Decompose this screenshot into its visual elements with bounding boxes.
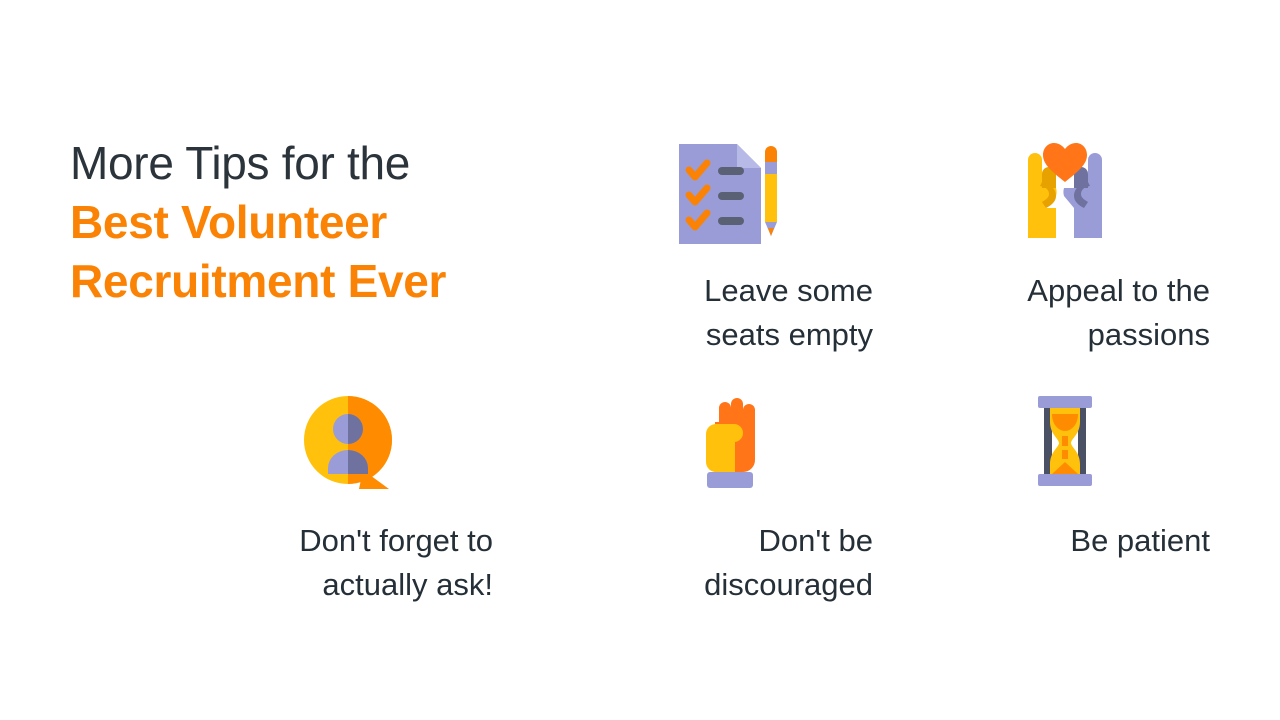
tip-caption: Be patient [920, 519, 1210, 563]
tip-caption: Don't forget to actually ask! [203, 519, 493, 607]
caption-line: actually ask! [203, 563, 493, 607]
caption-line: Be patient [920, 519, 1210, 563]
hourglass-icon [920, 386, 1210, 501]
slide-canvas: More Tips for the Best Volunteer Recruit… [0, 0, 1280, 720]
caption-line: discouraged [583, 563, 873, 607]
tip-dont-be-discouraged: Don't be discouraged [583, 386, 873, 607]
caption-line: passions [920, 313, 1210, 357]
title-line-1: More Tips for the [70, 134, 540, 193]
tip-caption: Appeal to the passions [920, 269, 1210, 357]
tip-be-patient: Be patient [920, 386, 1210, 563]
tip-leave-seats-empty: Leave some seats empty [583, 136, 873, 357]
raised-fist-icon [583, 386, 873, 501]
page-title: More Tips for the Best Volunteer Recruit… [70, 134, 540, 311]
tip-appeal-to-passions: Appeal to the passions [920, 136, 1210, 357]
caption-line: Don't forget to [203, 519, 493, 563]
tip-caption: Leave some seats empty [583, 269, 873, 357]
hands-holding-heart-icon [920, 136, 1210, 251]
title-line-3: Recruitment Ever [70, 252, 540, 311]
tip-caption: Don't be discouraged [583, 519, 873, 607]
caption-line: Appeal to the [920, 269, 1210, 313]
caption-line: seats empty [583, 313, 873, 357]
caption-line: Leave some [583, 269, 873, 313]
speech-bubble-person-icon [203, 386, 493, 501]
tip-actually-ask: Don't forget to actually ask! [203, 386, 493, 607]
caption-line: Don't be [583, 519, 873, 563]
checklist-clipboard-icon [583, 136, 873, 251]
title-line-2: Best Volunteer [70, 193, 540, 252]
